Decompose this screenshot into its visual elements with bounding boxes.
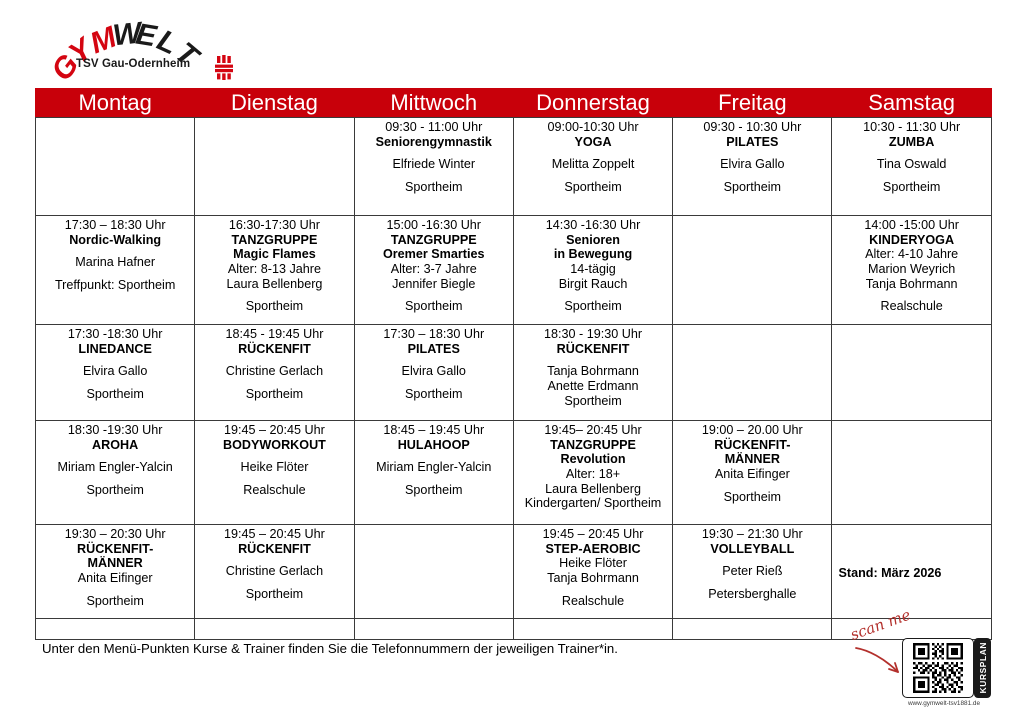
course-detail: 18:30 -19:30 Uhr — [38, 423, 192, 438]
accent-cell — [513, 619, 672, 640]
course-detail: 18:30 - 19:30 Uhr — [516, 327, 670, 342]
course-title: PILATES — [675, 135, 829, 150]
spacer — [516, 172, 670, 180]
course-title: TANZGRUPPE — [197, 233, 351, 248]
course-detail: Anita Eifinger — [38, 571, 192, 586]
spacer — [38, 475, 192, 483]
course-detail: Sportheim — [357, 483, 511, 498]
course-detail: 14:30 -16:30 Uhr — [516, 218, 670, 233]
spacer — [834, 527, 988, 535]
cell-content: 10:30 - 11:30 UhrZUMBA Tina Oswald Sport… — [834, 120, 988, 194]
course-detail: 09:30 - 10:30 Uhr — [675, 120, 829, 135]
spacer — [38, 356, 192, 364]
spacer — [834, 550, 988, 558]
course-detail: Tina Oswald — [834, 157, 988, 172]
cell-content: 18:30 - 19:30 UhrRÜCKENFIT Tanja Bohrman… — [516, 327, 670, 408]
spacer — [516, 356, 670, 364]
spacer — [38, 452, 192, 460]
course-title: RÜCKENFIT — [197, 342, 351, 357]
cell-content: 18:30 -19:30 UhrAROHA Miriam Engler-Yalc… — [38, 423, 192, 497]
accent-cell — [354, 619, 513, 640]
schedule-cell: 18:30 -19:30 UhrAROHA Miriam Engler-Yalc… — [36, 421, 195, 525]
spacer — [516, 586, 670, 594]
column-header-dienstag: Dienstag — [195, 89, 354, 118]
table-row: 18:30 -19:30 UhrAROHA Miriam Engler-Yalc… — [36, 421, 992, 525]
spacer — [834, 543, 988, 551]
course-detail: 19:45 – 20:45 Uhr — [516, 527, 670, 542]
course-title: STEP-AEROBIC — [516, 542, 670, 557]
course-detail: 19:45– 20:45 Uhr — [516, 423, 670, 438]
course-title: TANZGRUPPE — [516, 438, 670, 453]
course-detail: Elvira Gallo — [357, 364, 511, 379]
course-title: YOGA — [516, 135, 670, 150]
cell-content: 17:30 – 18:30 UhrNordic-Walking Marina H… — [38, 218, 192, 292]
course-detail: Sportheim — [357, 387, 511, 402]
course-title: Senioren — [516, 233, 670, 248]
table-body: 09:30 - 11:00 UhrSeniorengymnastik Elfri… — [36, 118, 992, 640]
spacer — [38, 247, 192, 255]
cell-content: 09:30 - 11:00 UhrSeniorengymnastik Elfri… — [357, 120, 511, 194]
course-detail: 14-tägig — [516, 262, 670, 277]
spacer — [357, 172, 511, 180]
accent-cell — [36, 619, 195, 640]
schedule-cell — [673, 325, 832, 421]
course-title: AROHA — [38, 438, 192, 453]
course-detail: Jennifer Biegle — [357, 277, 511, 292]
cell-content: 16:30-17:30 UhrTANZGRUPPEMagic FlamesAlt… — [197, 218, 351, 314]
course-detail: 16:30-17:30 Uhr — [197, 218, 351, 233]
spacer — [834, 172, 988, 180]
course-detail: 17:30 – 18:30 Uhr — [38, 218, 192, 233]
schedule-cell — [832, 325, 991, 421]
course-schedule-table: Montag Dienstag Mittwoch Donnerstag Frei… — [35, 88, 992, 640]
cell-content: 18:45 – 19:45 UhrHULAHOOP Miriam Engler-… — [357, 423, 511, 497]
course-title: TANZGRUPPE — [357, 233, 511, 248]
course-detail: Sportheim — [675, 490, 829, 505]
spacer — [197, 556, 351, 564]
cell-content: 19:30 – 20:30 UhrRÜCKENFIT-MÄNNERAnita E… — [38, 527, 192, 608]
logo-subtitle: TSV Gau-Odernheim — [76, 58, 190, 70]
course-detail: 17:30 – 18:30 Uhr — [357, 327, 511, 342]
course-detail: Tanja Bohrmann — [516, 571, 670, 586]
cell-content: 19:45– 20:45 UhrTANZGRUPPERevolutionAlte… — [516, 423, 670, 511]
course-detail: 18:45 – 19:45 Uhr — [357, 423, 511, 438]
course-detail: 19:45 – 20:45 Uhr — [197, 527, 351, 542]
course-title: Seniorengymnastik — [357, 135, 511, 150]
schedule-cell: 18:30 - 19:30 UhrRÜCKENFIT Tanja Bohrman… — [513, 325, 672, 421]
spacer — [675, 482, 829, 490]
course-detail: Melitta Zoppelt — [516, 157, 670, 172]
course-detail: Treffpunkt: Sportheim — [38, 278, 192, 293]
schedule-cell: 17:30 – 18:30 UhrNordic-Walking Marina H… — [36, 216, 195, 325]
course-detail: Elfriede Winter — [357, 157, 511, 172]
spacer — [197, 291, 351, 299]
course-detail: Anita Eifinger — [675, 467, 829, 482]
course-detail: 15:00 -16:30 Uhr — [357, 218, 511, 233]
course-detail: Laura Bellenberg — [516, 482, 670, 497]
qr-badge[interactable]: scan me — [846, 622, 996, 720]
course-title: Oremer Smarties — [357, 247, 511, 262]
spacer — [516, 149, 670, 157]
course-detail: Tanja Bohrmann — [834, 277, 988, 292]
schedule-cell — [832, 421, 991, 525]
spacer — [197, 452, 351, 460]
schedule-cell: 16:30-17:30 UhrTANZGRUPPEMagic FlamesAlt… — [195, 216, 354, 325]
course-detail: Sportheim — [516, 180, 670, 195]
course-detail: Petersberghalle — [675, 587, 829, 602]
schedule-cell: 17:30 -18:30 UhrLINEDANCE Elvira Gallo S… — [36, 325, 195, 421]
schedule-cell: 19:30 – 21:30 UhrVOLLEYBALL Peter Rieß P… — [673, 525, 832, 619]
spacer — [38, 586, 192, 594]
cell-content: 19:00 – 20.00 UhrRÜCKENFIT-MÄNNERAnita E… — [675, 423, 829, 504]
course-title: Nordic-Walking — [38, 233, 192, 248]
schedule-cell: 10:30 - 11:30 UhrZUMBA Tina Oswald Sport… — [832, 118, 991, 216]
cell-content: 19:30 – 21:30 UhrVOLLEYBALL Peter Rieß P… — [675, 527, 829, 601]
course-detail: Sportheim — [357, 180, 511, 195]
course-detail: Alter: 8-13 Jahre — [197, 262, 351, 277]
schedule-cell — [673, 216, 832, 325]
spacer — [834, 535, 988, 543]
course-detail: Anette Erdmann — [516, 379, 670, 394]
course-detail: 19:45 – 20:45 Uhr — [197, 423, 351, 438]
spacer — [675, 556, 829, 564]
spacer — [834, 291, 988, 299]
course-detail: 09:00-10:30 Uhr — [516, 120, 670, 135]
schedule-cell: 18:45 – 19:45 UhrHULAHOOP Miriam Engler-… — [354, 421, 513, 525]
course-detail: Sportheim — [38, 594, 192, 609]
cell-content: 14:00 -15:00 UhrKINDERYOGAAlter: 4-10 Ja… — [834, 218, 988, 314]
course-title: BODYWORKOUT — [197, 438, 351, 453]
course-detail: Sportheim — [516, 299, 670, 314]
spacer — [357, 475, 511, 483]
table-row: 17:30 – 18:30 UhrNordic-Walking Marina H… — [36, 216, 992, 325]
course-title: LINEDANCE — [38, 342, 192, 357]
cell-content: 19:45 – 20:45 UhrSTEP-AEROBICHeike Flöte… — [516, 527, 670, 608]
course-detail: Sportheim — [197, 587, 351, 602]
table-header-row: Montag Dienstag Mittwoch Donnerstag Frei… — [36, 89, 992, 118]
course-detail: 18:45 - 19:45 Uhr — [197, 327, 351, 342]
table-row: 09:30 - 11:00 UhrSeniorengymnastik Elfri… — [36, 118, 992, 216]
kursplan-tab: KURSPLAN — [974, 638, 991, 698]
course-detail: Elvira Gallo — [38, 364, 192, 379]
course-detail: 09:30 - 11:00 Uhr — [357, 120, 511, 135]
cell-content: 09:30 - 10:30 UhrPILATES Elvira Gallo Sp… — [675, 120, 829, 194]
course-detail: Realschule — [516, 594, 670, 609]
spacer — [834, 149, 988, 157]
kursplan-label: KURSPLAN — [978, 642, 988, 693]
course-title: in Bewegung — [516, 247, 670, 262]
schedule-cell: 09:30 - 10:30 UhrPILATES Elvira Gallo Sp… — [673, 118, 832, 216]
column-header-montag: Montag — [36, 89, 195, 118]
schedule-cell: 19:45 – 20:45 UhrSTEP-AEROBICHeike Flöte… — [513, 525, 672, 619]
course-title: ZUMBA — [834, 135, 988, 150]
course-detail: Alter: 4-10 Jahre — [834, 247, 988, 262]
course-detail: Alter: 18+ — [516, 467, 670, 482]
cell-content: 19:45 – 20:45 UhrBODYWORKOUT Heike Flöte… — [197, 423, 351, 497]
schedule-cell — [354, 525, 513, 619]
schedule-cell: 19:00 – 20.00 UhrRÜCKENFIT-MÄNNERAnita E… — [673, 421, 832, 525]
schedule-cell: 09:00-10:30 UhrYOGA Melitta Zoppelt Spor… — [513, 118, 672, 216]
qr-url-label: www.gymwelt-tsv1881.de — [894, 700, 994, 707]
schedule-cell: Stand: März 2026 — [832, 525, 991, 619]
course-detail: Sportheim — [357, 299, 511, 314]
course-title: RÜCKENFIT — [516, 342, 670, 357]
spacer — [357, 291, 511, 299]
column-header-freitag: Freitag — [673, 89, 832, 118]
course-title: MÄNNER — [675, 452, 829, 467]
cell-content: 15:00 -16:30 UhrTANZGRUPPEOremer Smartie… — [357, 218, 511, 314]
course-detail: Birgit Rauch — [516, 277, 670, 292]
spacer — [357, 452, 511, 460]
course-detail: Realschule — [834, 299, 988, 314]
schedule-cell: 17:30 – 18:30 UhrPILATES Elvira Gallo Sp… — [354, 325, 513, 421]
course-detail: Sportheim — [38, 387, 192, 402]
schedule-cell: 14:00 -15:00 UhrKINDERYOGAAlter: 4-10 Ja… — [832, 216, 991, 325]
spacer — [197, 379, 351, 387]
schedule-cell: 18:45 - 19:45 UhrRÜCKENFIT Christine Ger… — [195, 325, 354, 421]
course-detail: Heike Flöter — [197, 460, 351, 475]
course-detail: 19:30 – 21:30 Uhr — [675, 527, 829, 542]
table-row: 19:30 – 20:30 UhrRÜCKENFIT-MÄNNERAnita E… — [36, 525, 992, 619]
course-title: RÜCKENFIT — [197, 542, 351, 557]
schedule-cell: 19:45 – 20:45 UhrBODYWORKOUT Heike Flöte… — [195, 421, 354, 525]
course-detail: Elvira Gallo — [675, 157, 829, 172]
brand-logo: GYMWELT TSV Gau-Odernheim — [36, 18, 296, 80]
course-detail: Tanja Bohrmann — [516, 364, 670, 379]
schedule-cell — [195, 118, 354, 216]
footer-note: Unter den Menü-Punkten Kurse & Trainer f… — [42, 641, 618, 656]
course-title: Stand: März 2026 — [834, 566, 988, 581]
schedule-cell: 19:45– 20:45 UhrTANZGRUPPERevolutionAlte… — [513, 421, 672, 525]
spacer — [197, 356, 351, 364]
course-title: MÄNNER — [38, 556, 192, 571]
spacer — [675, 149, 829, 157]
spacer — [38, 270, 192, 278]
course-title: RÜCKENFIT- — [675, 438, 829, 453]
cell-content: 18:45 - 19:45 UhrRÜCKENFIT Christine Ger… — [197, 327, 351, 401]
course-title: HULAHOOP — [357, 438, 511, 453]
spacer — [357, 379, 511, 387]
course-detail: Sportheim — [197, 299, 351, 314]
course-detail: Sportheim — [516, 394, 670, 409]
course-detail: Sportheim — [834, 180, 988, 195]
course-detail: Heike Flöter — [516, 556, 670, 571]
course-title: RÜCKENFIT- — [38, 542, 192, 557]
course-detail: Christine Gerlach — [197, 564, 351, 579]
table-row: 17:30 -18:30 UhrLINEDANCE Elvira Gallo S… — [36, 325, 992, 421]
course-detail: Miriam Engler-Yalcin — [357, 460, 511, 475]
column-header-donnerstag: Donnerstag — [513, 89, 672, 118]
course-detail: 17:30 -18:30 Uhr — [38, 327, 192, 342]
course-detail: 19:00 – 20.00 Uhr — [675, 423, 829, 438]
schedule-cell: 15:00 -16:30 UhrTANZGRUPPEOremer Smartie… — [354, 216, 513, 325]
course-detail: Marion Weyrich — [834, 262, 988, 277]
schedule-cell: 19:45 – 20:45 UhrRÜCKENFIT Christine Ger… — [195, 525, 354, 619]
spacer — [834, 558, 988, 566]
qr-code-icon[interactable] — [902, 638, 974, 698]
cell-content: 17:30 – 18:30 UhrPILATES Elvira Gallo Sp… — [357, 327, 511, 401]
cell-content: 09:00-10:30 UhrYOGA Melitta Zoppelt Spor… — [516, 120, 670, 194]
course-detail: Kindergarten/ Sportheim — [516, 496, 670, 511]
spacer — [357, 149, 511, 157]
cell-content: Stand: März 2026 — [834, 527, 988, 581]
accent-cell — [195, 619, 354, 640]
course-detail: Marina Hafner — [38, 255, 192, 270]
course-detail: Peter Rieß — [675, 564, 829, 579]
course-title: PILATES — [357, 342, 511, 357]
course-detail: Sportheim — [197, 387, 351, 402]
cell-content: 17:30 -18:30 UhrLINEDANCE Elvira Gallo S… — [38, 327, 192, 401]
course-detail: 19:30 – 20:30 Uhr — [38, 527, 192, 542]
schedule-cell: 09:30 - 11:00 UhrSeniorengymnastik Elfri… — [354, 118, 513, 216]
schedule-cell: 19:30 – 20:30 UhrRÜCKENFIT-MÄNNERAnita E… — [36, 525, 195, 619]
accent-cell — [673, 619, 832, 640]
course-detail: Miriam Engler-Yalcin — [38, 460, 192, 475]
spacer — [197, 579, 351, 587]
course-detail: Sportheim — [38, 483, 192, 498]
course-title: VOLLEYBALL — [675, 542, 829, 557]
cell-content: 14:30 -16:30 UhrSeniorenin Bewegung14-tä… — [516, 218, 670, 314]
course-detail: Christine Gerlach — [197, 364, 351, 379]
spacer — [197, 475, 351, 483]
course-detail: 10:30 - 11:30 Uhr — [834, 120, 988, 135]
spacer — [516, 291, 670, 299]
course-detail: Alter: 3-7 Jahre — [357, 262, 511, 277]
schedule-cell — [36, 118, 195, 216]
column-header-mittwoch: Mittwoch — [354, 89, 513, 118]
spacer — [675, 172, 829, 180]
course-detail: Realschule — [197, 483, 351, 498]
course-title: Magic Flames — [197, 247, 351, 262]
cell-content: 19:45 – 20:45 UhrRÜCKENFIT Christine Ger… — [197, 527, 351, 601]
course-detail: Laura Bellenberg — [197, 277, 351, 292]
schedule-cell: 14:30 -16:30 UhrSeniorenin Bewegung14-tä… — [513, 216, 672, 325]
course-detail: Sportheim — [675, 180, 829, 195]
course-detail: 14:00 -15:00 Uhr — [834, 218, 988, 233]
cross-hatch-icon — [214, 54, 240, 80]
column-header-samstag: Samstag — [832, 89, 991, 118]
course-title: Revolution — [516, 452, 670, 467]
spacer — [38, 379, 192, 387]
spacer — [675, 579, 829, 587]
spacer — [357, 356, 511, 364]
course-title: KINDERYOGA — [834, 233, 988, 248]
